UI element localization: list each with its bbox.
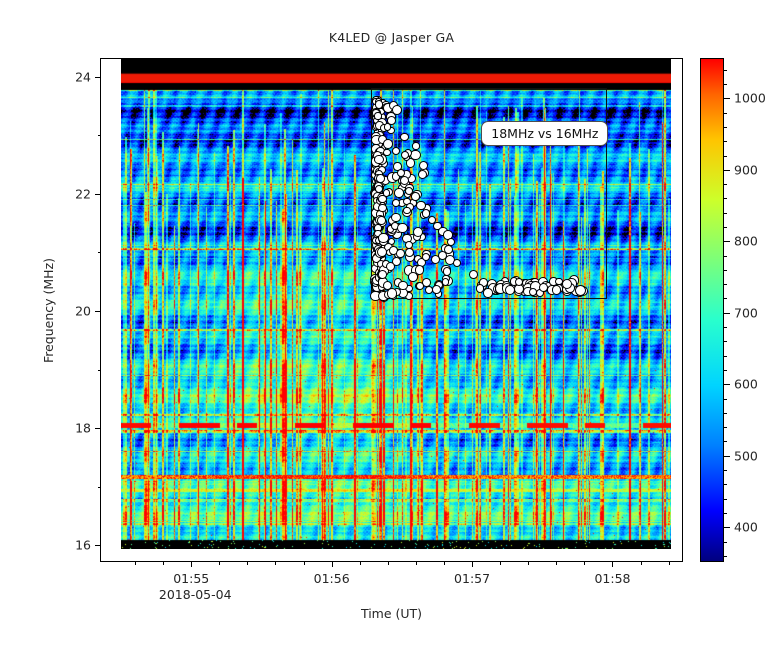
- x-tick-minor: [360, 561, 361, 565]
- chart-title: K4LED @ Jasper GA: [100, 30, 683, 45]
- colorbar-tick-major: [723, 241, 730, 242]
- colorbar-tick-label: 600: [734, 377, 758, 392]
- colorbar-tick-minor: [723, 127, 727, 128]
- colorbar-tick-minor: [723, 156, 727, 157]
- scatter-point: [413, 227, 423, 237]
- x-tick-minor: [528, 561, 529, 565]
- colorbar-tick-minor: [723, 256, 727, 257]
- y-tick-major: [95, 545, 101, 546]
- x-tick-minor: [556, 561, 557, 565]
- scatter-point: [483, 288, 492, 297]
- scatter-point: [529, 288, 537, 296]
- scatter-point: [453, 259, 461, 267]
- plot-area: 18MHz vs 16MHz: [101, 59, 682, 561]
- x-tick-minor: [163, 561, 164, 565]
- y-tick-minor: [98, 487, 102, 488]
- y-tick-major: [95, 77, 101, 78]
- scatter-point: [377, 216, 385, 224]
- scatter-point: [376, 174, 385, 183]
- scatter-point: [418, 170, 427, 179]
- scatter-point: [476, 284, 485, 293]
- colorbar-tick-label: 400: [734, 520, 758, 535]
- scatter-point: [575, 285, 586, 296]
- colorbar-tick-minor: [723, 327, 727, 328]
- scatter-point: [378, 204, 386, 212]
- x-tick-minor: [135, 561, 136, 565]
- y-tick-major: [95, 428, 101, 429]
- colorbar-tick-major: [723, 98, 730, 99]
- scatter-point: [383, 149, 390, 156]
- colorbar-tick-minor: [723, 198, 727, 199]
- scatter-point: [562, 279, 572, 289]
- scatter-point: [392, 199, 400, 207]
- x-tick-minor: [219, 561, 220, 565]
- scatter-point: [405, 248, 414, 257]
- scatter-point: [412, 142, 419, 149]
- y-tick-major: [95, 311, 101, 312]
- colorbar-tick-major: [723, 313, 730, 314]
- y-tick-minor: [98, 252, 102, 253]
- figure-canvas: K4LED @ Jasper GA Frequency (MHz) 18MHz …: [0, 0, 783, 656]
- x-tick-label: 01:58: [594, 571, 630, 586]
- scatter-point: [383, 189, 391, 197]
- x-axis-date: 2018-05-04: [159, 587, 232, 602]
- x-tick-minor: [416, 561, 417, 565]
- scatter-point: [469, 270, 478, 279]
- x-tick-minor: [641, 561, 642, 565]
- colorbar-tick-minor: [723, 213, 727, 214]
- y-tick-minor: [98, 135, 102, 136]
- colorbar-tick-minor: [723, 84, 727, 85]
- y-tick-label: 22: [75, 186, 91, 201]
- x-tick-minor: [584, 561, 585, 565]
- x-axis-label: Time (UT): [100, 606, 683, 621]
- x-tick-minor: [500, 561, 501, 565]
- x-tick-minor: [247, 561, 248, 565]
- colorbar-tick-minor: [723, 399, 727, 400]
- scatter-point: [398, 281, 407, 290]
- colorbar-tick-minor: [723, 484, 727, 485]
- y-tick-minor: [98, 370, 102, 371]
- colorbar-tick-label: 800: [734, 234, 758, 249]
- colorbar-tick-minor: [723, 370, 727, 371]
- colorbar-tick-minor: [723, 341, 727, 342]
- colorbar-tick-label: 1000: [734, 91, 766, 106]
- y-tick-major: [95, 194, 101, 195]
- colorbar-tick-minor: [723, 413, 727, 414]
- colorbar-tick-minor: [723, 499, 727, 500]
- x-tick-label: 01:57: [454, 571, 490, 586]
- scatter-point: [515, 278, 523, 286]
- scatter-point: [391, 213, 400, 222]
- colorbar-tick-label: 500: [734, 448, 758, 463]
- scatter-point: [422, 253, 430, 261]
- colorbar-tick-label: 900: [734, 162, 758, 177]
- colorbar-tick-minor: [723, 513, 727, 514]
- x-tick-label: 01:55: [173, 571, 209, 586]
- scatter-point: [374, 112, 381, 119]
- scatter-point: [387, 116, 396, 125]
- scatter-point: [397, 223, 407, 233]
- colorbar-tick-minor: [723, 356, 727, 357]
- colorbar-gradient: [701, 59, 723, 561]
- scatter-point: [411, 192, 420, 201]
- scatter-point: [378, 233, 389, 244]
- colorbar-tick-minor: [723, 441, 727, 442]
- x-tick-minor: [444, 561, 445, 565]
- colorbar-tick-major: [723, 384, 730, 385]
- scatter-point: [375, 100, 383, 108]
- scatter-point: [383, 139, 393, 149]
- colorbar-tick-minor: [723, 141, 727, 142]
- y-tick-label: 16: [75, 538, 91, 553]
- y-tick-label: 18: [75, 421, 91, 436]
- colorbar-tick-minor: [723, 227, 727, 228]
- colorbar-tick-minor: [723, 113, 727, 114]
- x-tick-major: [612, 561, 613, 567]
- y-axis-label-text: Frequency (MHz): [42, 257, 57, 362]
- x-tick-minor: [304, 561, 305, 565]
- scatter-point: [539, 283, 548, 292]
- scatter-point: [392, 147, 400, 155]
- x-tick-minor: [275, 561, 276, 565]
- colorbar-tick-label: 700: [734, 305, 758, 320]
- scatter-point: [394, 188, 404, 198]
- colorbar-tick-minor: [723, 427, 727, 428]
- x-tick-major: [332, 561, 333, 567]
- x-tick-minor: [388, 561, 389, 565]
- scatter-point: [396, 249, 405, 258]
- colorbar-tick-minor: [723, 284, 727, 285]
- y-tick-label: 20: [75, 304, 91, 319]
- x-tick-major: [472, 561, 473, 567]
- colorbar-tick-minor: [723, 542, 727, 543]
- colorbar: 4005006007008009001000: [700, 58, 724, 562]
- colorbar-tick-minor: [723, 298, 727, 299]
- x-tick-minor: [669, 561, 670, 565]
- main-axes: 18MHz vs 16MHz 1618202224 01:552018-05-0…: [100, 58, 683, 562]
- x-tick-major: [191, 561, 192, 567]
- scatter-point: [410, 150, 420, 160]
- y-tick-label: 24: [75, 69, 91, 84]
- annotation-label: 18MHz vs 16MHz: [481, 121, 608, 146]
- scatter-point: [403, 207, 411, 215]
- colorbar-tick-major: [723, 170, 730, 171]
- scatter-point: [432, 285, 441, 294]
- colorbar-tick-minor: [723, 556, 727, 557]
- scatter-point: [408, 272, 418, 282]
- scatter-point: [400, 133, 408, 141]
- colorbar-tick-minor: [723, 270, 727, 271]
- colorbar-tick-minor: [723, 70, 727, 71]
- colorbar-tick-major: [723, 456, 730, 457]
- colorbar-tick-major: [723, 527, 730, 528]
- y-axis-label: Frequency (MHz): [40, 58, 58, 562]
- colorbar-tick-minor: [723, 184, 727, 185]
- colorbar-tick-minor: [723, 470, 727, 471]
- x-tick-label: 01:56: [314, 571, 350, 586]
